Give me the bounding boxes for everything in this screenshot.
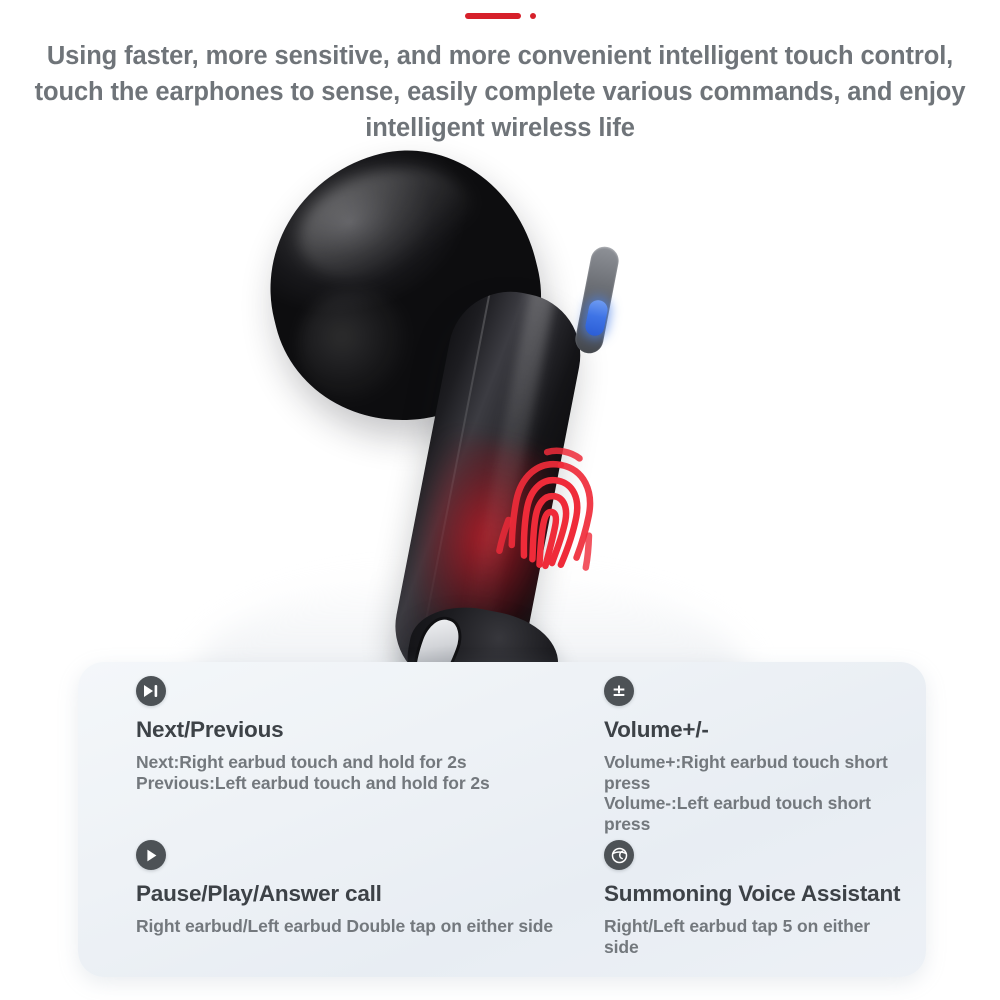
gesture-item-voice-assistant: Summoning Voice Assistant Right/Left ear… (588, 836, 908, 967)
earbud-product-image (250, 140, 680, 750)
voice-assistant-icon (604, 840, 634, 870)
gesture-item-volume: ± Volume+/- Volume+:Right earbud touch s… (588, 676, 908, 836)
gesture-item-next-previous: Next/Previous Next:Right earbud touch an… (136, 676, 588, 836)
gesture-instructions-panel: Next/Previous Next:Right earbud touch an… (78, 662, 926, 977)
volume-plus-minus-icon: ± (604, 676, 634, 706)
gesture-description: Right earbud/Left earbud Double tap on e… (136, 916, 588, 937)
next-track-icon (136, 676, 166, 706)
plus-minus-glyph: ± (612, 683, 626, 700)
gesture-title: Volume+/- (604, 717, 908, 743)
gesture-title: Pause/Play/Answer call (136, 881, 588, 907)
gesture-description: Right/Left earbud tap 5 on either side (604, 916, 908, 957)
gesture-title: Next/Previous (136, 717, 588, 743)
gesture-item-play-pause: Pause/Play/Answer call Right earbud/Left… (136, 836, 588, 967)
product-infographic: Using faster, more sensitive, and more c… (0, 0, 1000, 1000)
gesture-title: Summoning Voice Assistant (604, 881, 908, 907)
red-accent-bar (465, 13, 521, 19)
gesture-description: Next:Right earbud touch and hold for 2s … (136, 752, 588, 793)
gesture-description: Volume+:Right earbud touch short press V… (604, 752, 908, 835)
accent-mark (0, 10, 1000, 22)
play-pause-icon (136, 840, 166, 870)
red-accent-dot (530, 13, 536, 19)
headline-text: Using faster, more sensitive, and more c… (34, 38, 966, 146)
